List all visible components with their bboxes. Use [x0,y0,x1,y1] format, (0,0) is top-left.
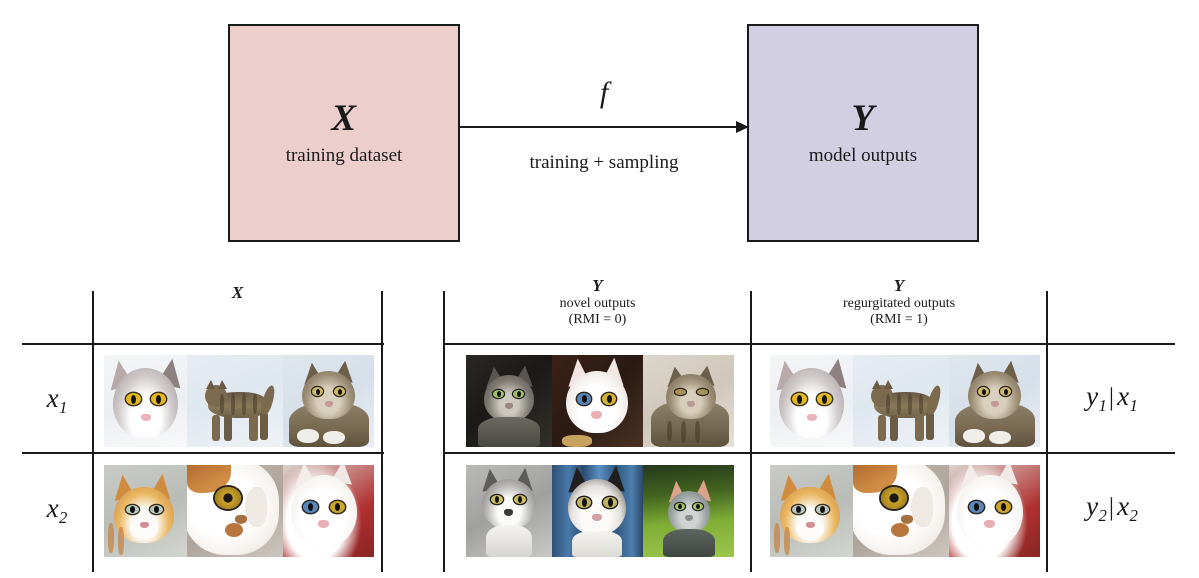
header-regurgitated-line2: (RMI = 1) [752,312,1046,328]
header-regurgitated-line1: regurgitated outputs [752,296,1046,312]
cell-row2-x [104,465,374,557]
cond-label-y1-sub: 1 [1099,396,1107,415]
photo-white-cat-heterochromia [283,465,374,557]
row-label-x1-base: x [47,383,59,413]
model-outputs-box: Y model outputs [747,24,979,242]
training-dataset-symbol: X [331,100,356,137]
cell-row1-x [104,355,374,447]
cell-row2-regurgitated [770,465,1040,557]
photo-grey-white-kitten-face [770,355,853,447]
photo-white-cat-heterochromia [949,465,1040,557]
cell-row2-novel [466,465,734,557]
photo-black-white-cat-blue-fence [552,465,643,557]
photo-grey-cat-green-grass [643,465,734,557]
cond-label-y1x1: y1|x1 [1048,383,1176,414]
header-novel-line2: (RMI = 0) [445,312,750,328]
model-outputs-caption: model outputs [809,146,917,167]
header-novel-line1: novel outputs [445,296,750,312]
cond-label-y2: y [1086,491,1098,521]
photo-calico-white-cat-yellow-eye [853,465,949,557]
table-rule-right-mid [443,452,1175,454]
cond-label-bar-2: | [1109,492,1114,521]
table-divider-rowlabel [92,291,94,572]
model-outputs-symbol: Y [851,100,874,137]
photo-white-cat-odd-eyes-dark-bg [552,355,643,447]
photo-grey-white-kitten-face [104,355,187,447]
table-rule-left-mid [22,452,384,454]
process-label: training + sampling [440,153,768,174]
cond-label-y2x2: y2|x2 [1048,493,1176,524]
header-novel-symbol: Y [445,276,750,296]
photo-calico-white-cat-yellow-eye [187,465,283,557]
header-novel-column: Y novel outputs (RMI = 0) [445,276,750,328]
photo-orange-tabby-white-face [104,465,187,557]
row-label-x1-sub: 1 [59,398,67,417]
cond-label-bar-1: | [1109,382,1114,411]
photo-tabby-cat-lying-down [283,355,374,447]
header-x-symbol: X [94,283,381,303]
photo-tabby-cat-lying-down [949,355,1040,447]
row-label-x2-base: x [47,493,59,523]
row-label-x2-sub: 2 [59,508,67,527]
table-divider-cond-start [1046,291,1048,572]
function-label: f [460,78,748,108]
row-label-x1: x1 [22,385,92,416]
photo-tabby-cat-lying-beige [643,355,734,447]
training-dataset-box: X training dataset [228,24,460,242]
header-regurgitated-symbol: Y [752,276,1046,296]
table-rule-left-top [22,343,384,345]
cond-label-x1: x [1117,381,1129,411]
photo-orange-tabby-white-face [770,465,853,557]
cell-row1-regurgitated [770,355,1040,447]
figure-root: X training dataset f training + sampling… [0,0,1199,578]
cell-row1-novel [466,355,734,447]
table-divider-novel-start [443,291,445,572]
transformation-arrow [460,126,748,128]
header-regurgitated-column: Y regurgitated outputs (RMI = 1) [752,276,1046,328]
training-dataset-caption: training dataset [286,146,403,167]
cond-label-y2-sub: 2 [1099,506,1107,525]
photo-grey-white-cat-pavement [466,465,552,557]
cond-label-x2-sub: 2 [1130,506,1138,525]
arrow-shaft [460,126,748,128]
table-rule-right-top [443,343,1175,345]
photo-dark-grey-tabby-face [466,355,552,447]
table-divider-x-end [381,291,383,572]
cond-label-x2: x [1117,491,1129,521]
row-label-x2: x2 [22,495,92,526]
cond-label-x1-sub: 1 [1130,396,1138,415]
table-divider-novel-regurg [750,291,752,572]
header-x-column: X [94,283,381,303]
photo-brown-tabby-standing-snow [853,355,949,447]
photo-brown-tabby-standing-snow [187,355,283,447]
cond-label-y1: y [1086,381,1098,411]
